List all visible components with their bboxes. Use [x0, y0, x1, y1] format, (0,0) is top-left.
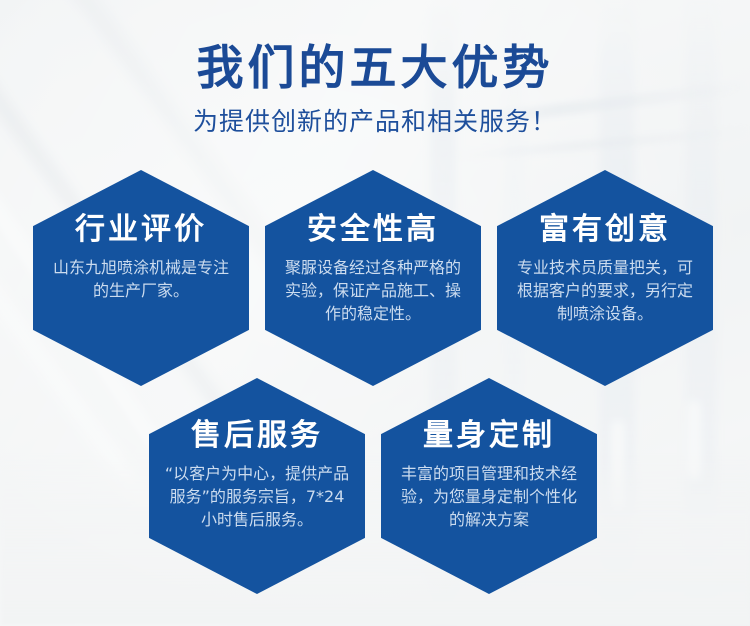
advantage-body: 丰富的项目管理和技术经验，为您量身定制个性化的解决方案 [387, 462, 591, 531]
advantage-title: 行业评价 [75, 212, 207, 248]
advantage-title: 售后服务 [191, 418, 323, 454]
advantage-title: 安全性高 [307, 212, 439, 248]
advantage-body: 山东九旭喷涂机械是专注的生产厂家。 [39, 256, 243, 302]
advantage-body: 聚脲设备经过各种严格的实验，保证产品施工、操作的稳定性。 [271, 256, 475, 325]
header: 我们的五大优势 为提供创新的产品和相关服务！ [0, 40, 750, 138]
advantage-title: 量身定制 [423, 418, 555, 454]
advantage-body: 专业技术员质量把关，可根据客户的要求，另行定制喷涂设备。 [503, 256, 707, 325]
promo-banner: 我们的五大优势 为提供创新的产品和相关服务！ 行业评价 山东九旭喷涂机械是专注的… [0, 0, 750, 626]
page-subtitle: 为提供创新的产品和相关服务！ [0, 106, 750, 138]
advantage-title: 富有创意 [539, 212, 671, 248]
advantage-body: “以客户为中心，提供产品服务”的服务宗旨，7*24小时售后服务。 [155, 462, 359, 531]
page-title: 我们的五大优势 [0, 40, 750, 98]
